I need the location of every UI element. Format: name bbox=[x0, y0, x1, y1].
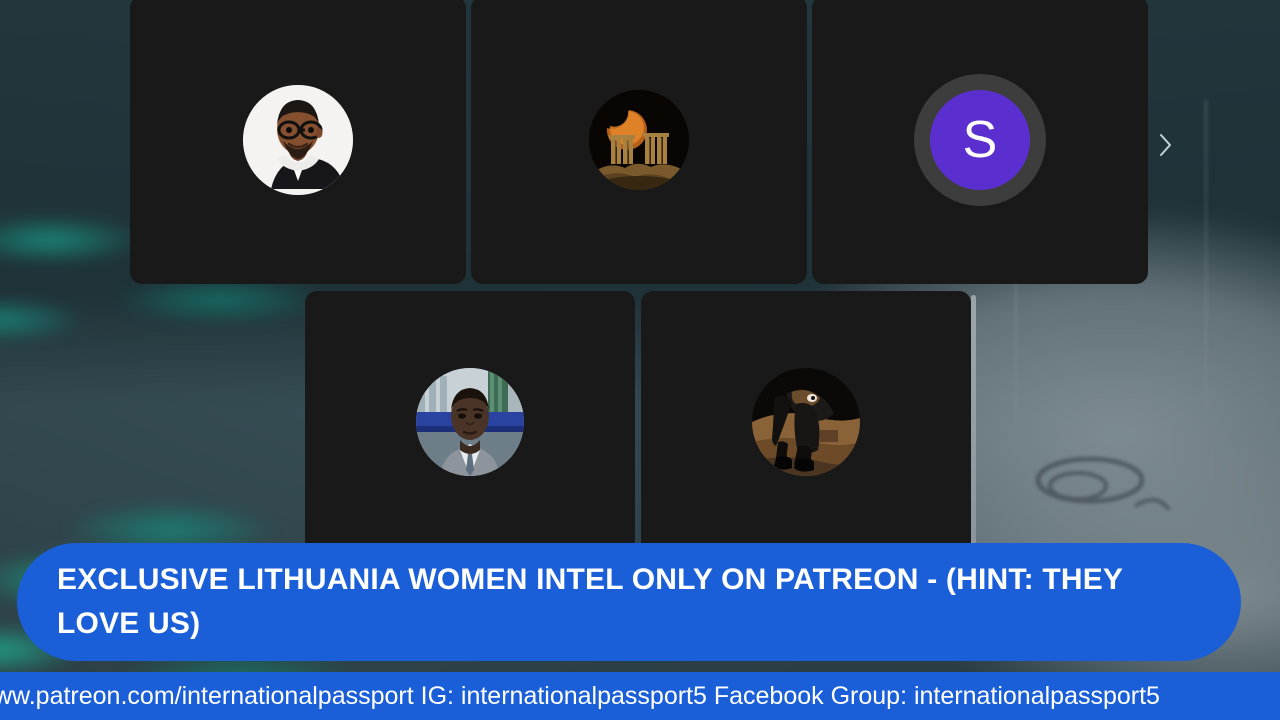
ticker-bar: ww.patreon.com/internationalpassport IG:… bbox=[0, 672, 1280, 720]
chevron-right-icon[interactable] bbox=[1155, 131, 1177, 159]
stream-stage: S bbox=[0, 0, 1280, 720]
avatar bbox=[752, 368, 860, 476]
headline-text: EXCLUSIVE LITHUANIA WOMEN INTEL ONLY ON … bbox=[57, 558, 1201, 647]
avatar: S bbox=[914, 74, 1046, 206]
headline-banner: EXCLUSIVE LITHUANIA WOMEN INTEL ONLY ON … bbox=[17, 543, 1241, 661]
participant-tile-3[interactable]: S bbox=[812, 0, 1148, 284]
ticker-text: ww.patreon.com/internationalpassport IG:… bbox=[0, 684, 1160, 709]
avatar bbox=[243, 85, 353, 195]
participant-tile-2[interactable] bbox=[471, 0, 807, 284]
participant-tile-1[interactable] bbox=[130, 0, 466, 284]
tile-scroll-rail[interactable] bbox=[971, 295, 976, 545]
participant-tile-4[interactable] bbox=[305, 291, 635, 553]
avatar bbox=[416, 368, 524, 476]
participant-tile-5[interactable] bbox=[641, 291, 971, 553]
avatar bbox=[589, 90, 689, 190]
avatar-initial: S bbox=[930, 90, 1030, 190]
